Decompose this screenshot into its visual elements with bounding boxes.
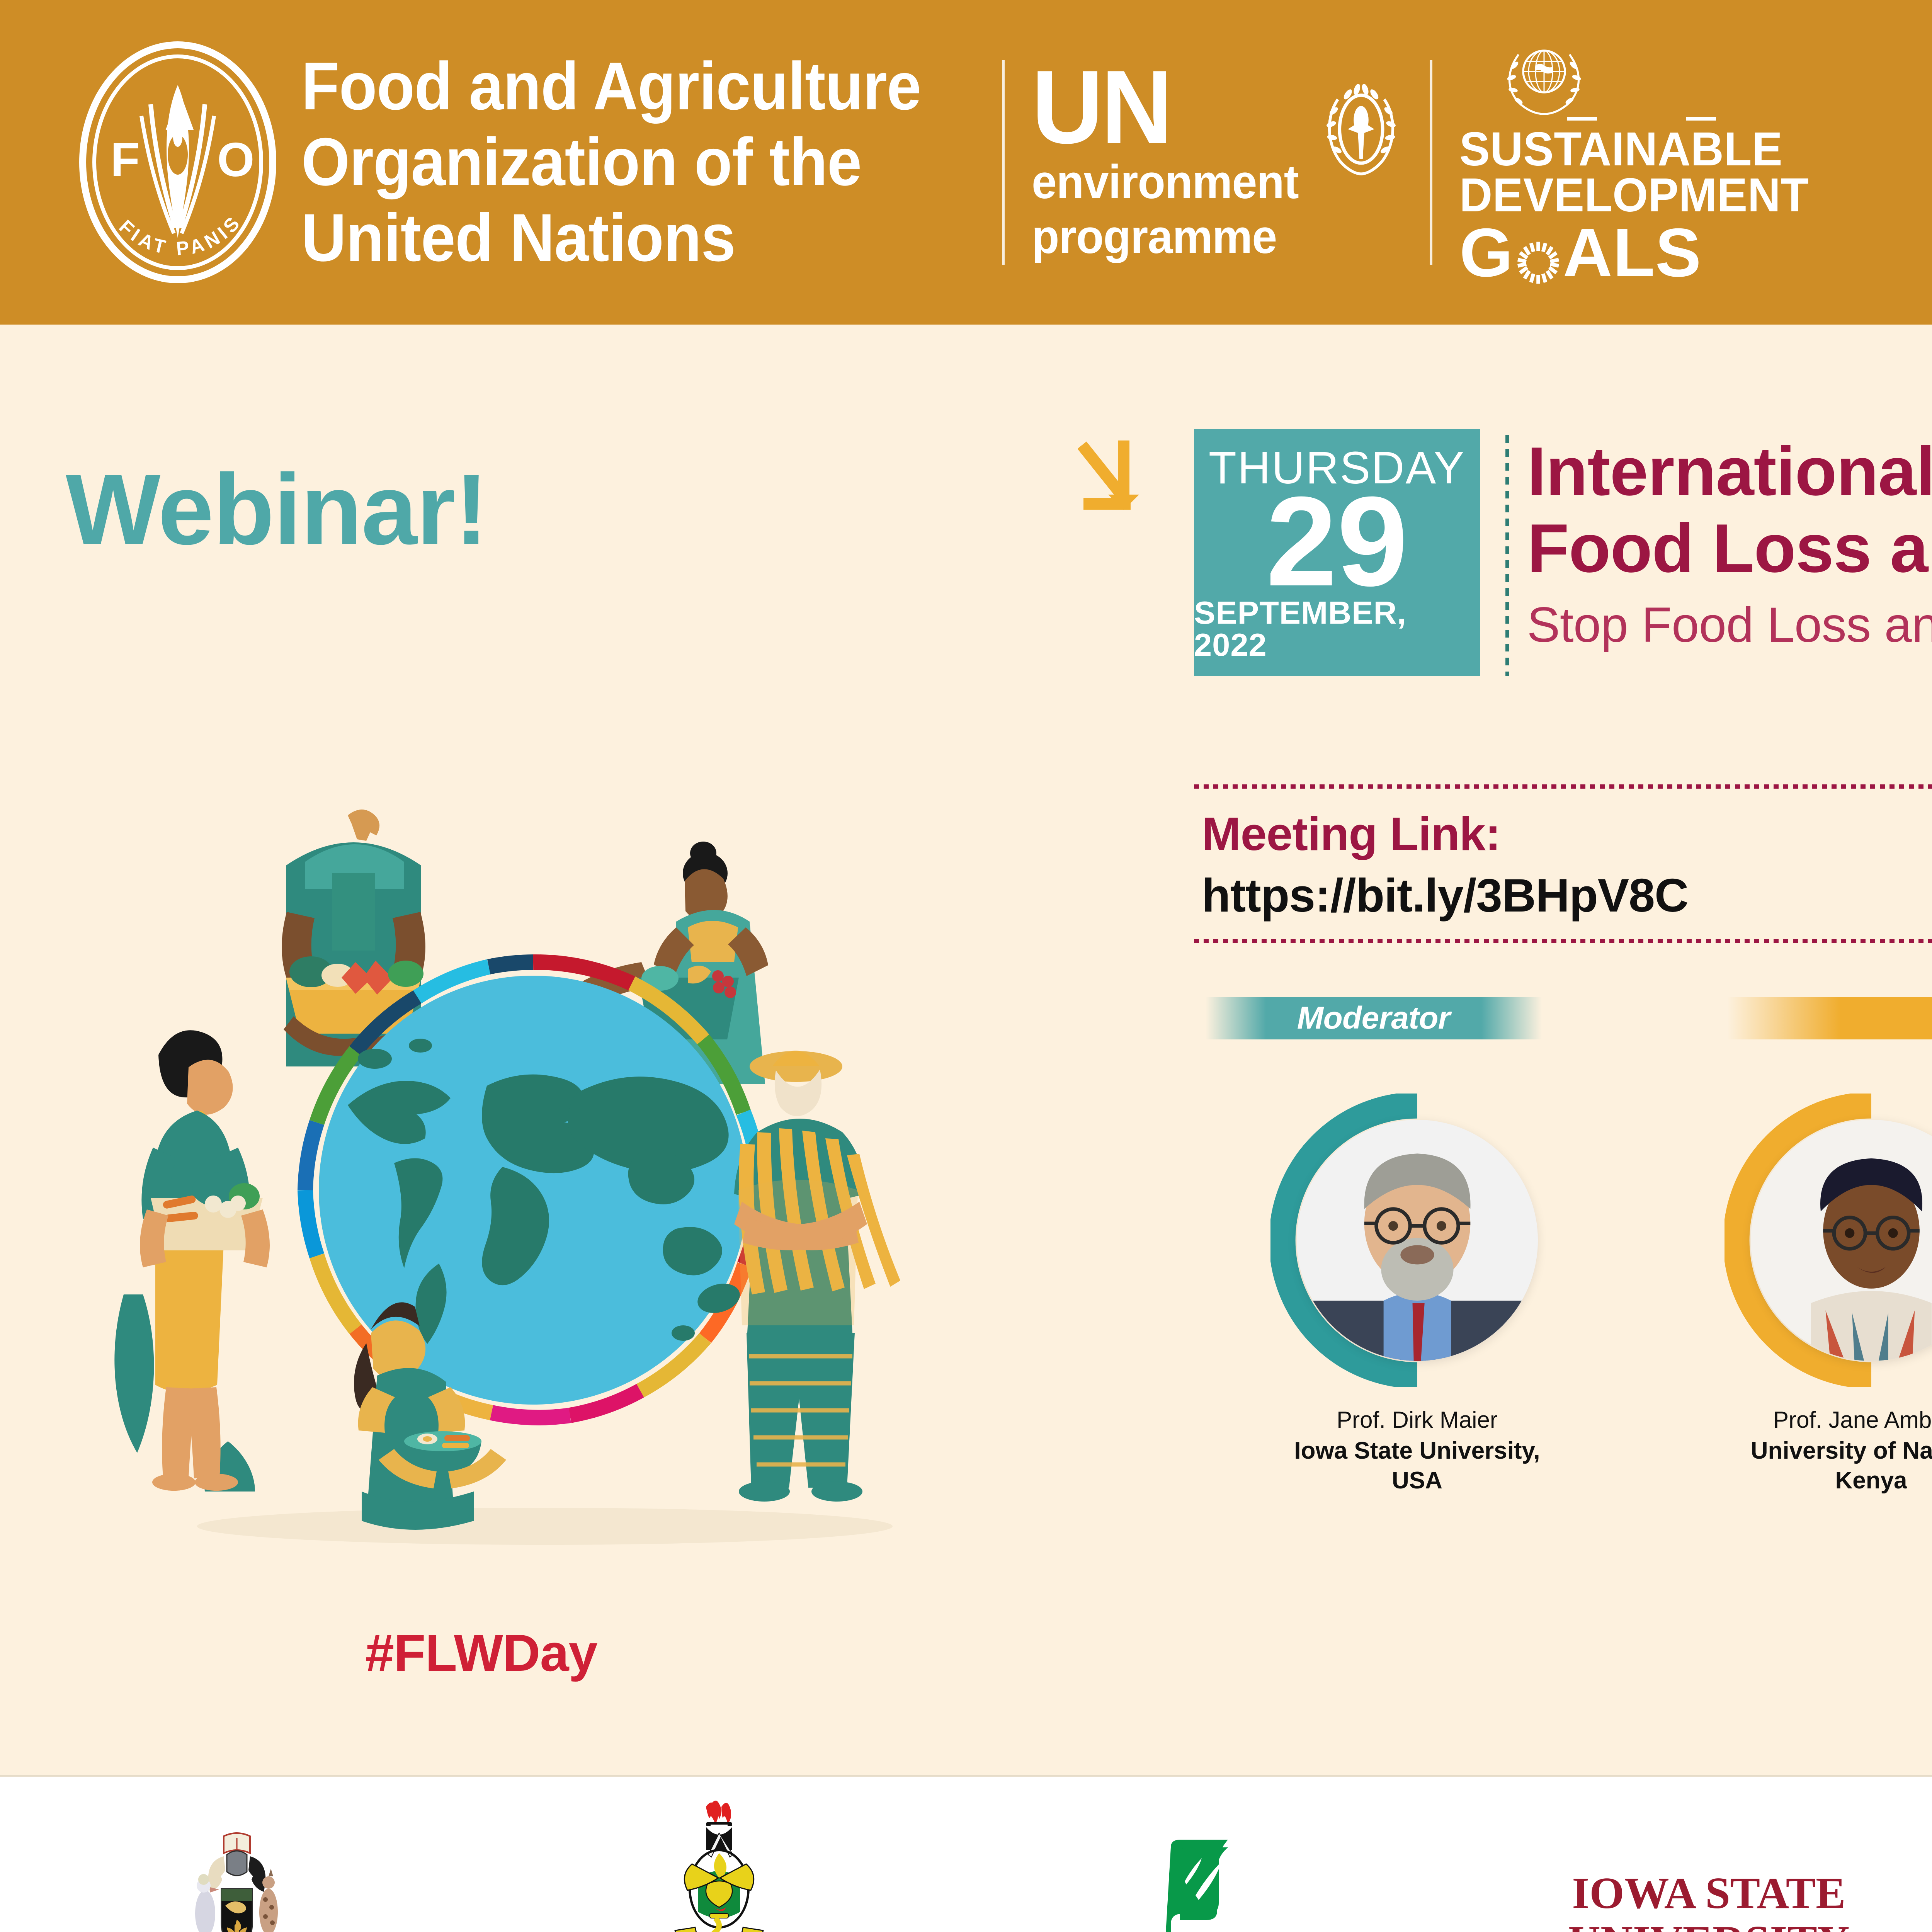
footer-divider <box>0 1775 1932 1777</box>
sdg-goals-word: G <box>1459 218 1823 287</box>
speakers-row: Prof. Dirk Maier Iowa State University,U… <box>1190 1094 1932 1496</box>
event-title-line-1: International Day of Awareness of <box>1527 433 1932 510</box>
meeting-link-label: Meeting Link: <box>1202 808 1688 861</box>
unep-laurel-icon <box>1320 81 1403 185</box>
fao-name-line-3: United Nations <box>301 200 921 276</box>
svg-text:A: A <box>165 92 195 139</box>
speaker-card-moderator: Prof. Dirk Maier Iowa State University,U… <box>1190 1094 1644 1496</box>
logo-iowa-state-university: IOWA STATE UNIVERSITY <box>1568 1869 1849 1932</box>
header-bar: F O A FIAT PANIS Food and Agriculture Or… <box>0 0 1932 325</box>
sdg-goals-als: ALS <box>1563 218 1702 287</box>
sdg-colour-wheel-icon <box>1514 229 1562 277</box>
fao-name-line-2: Organization of the <box>301 124 921 200</box>
logo-zamorano: ZAMORANO <box>1085 1838 1329 1932</box>
info-strip: Meeting Link: https://bit.ly/3BHpV8C Tim… <box>1202 808 1932 922</box>
speaker-affiliation: University of Nairobi,Kenya <box>1751 1436 1932 1496</box>
sdg-line-2: DEVELOPMENT <box>1459 173 1809 218</box>
header-divider-2 <box>1430 60 1432 265</box>
moderator-banner-label: Moderator <box>1297 1000 1450 1036</box>
panelists-banner: Panelists <box>1727 997 1932 1039</box>
iowa-line-2: UNIVERSITY <box>1568 1918 1849 1932</box>
sdg-line-1: SUSTAINABLE <box>1459 127 1809 172</box>
date-card: THURSDAY 29 SEPTEMBER, 2022 <box>1194 429 1480 676</box>
date-card-month-year: SEPTEMBER, 2022 <box>1194 597 1480 661</box>
speaker-headshot <box>1297 1120 1538 1361</box>
speaker-affiliation: Iowa State University,USA <box>1294 1436 1540 1496</box>
event-title-block: International Day of Awareness of Food L… <box>1527 429 1932 655</box>
sdg-rule-right <box>1686 117 1716 121</box>
arrow-pointer-icon <box>1078 437 1206 526</box>
svg-text:F: F <box>111 133 140 187</box>
speaker-name: Prof. Jane Ambuko <box>1773 1406 1932 1434</box>
meeting-link-url[interactable]: https://bit.ly/3BHpV8C <box>1202 869 1688 922</box>
speaker-name: Prof. Dirk Maier <box>1337 1406 1498 1434</box>
nairobi-crest-icon: UNITATE ET LABORE <box>179 1822 295 1932</box>
sdg-rule-left <box>1567 117 1597 121</box>
logo-knust: KNUST KWAME NKRUMAH UNIVERSITY OF SCIENC… <box>586 1798 852 1932</box>
fao-logo-lockup: F O A FIAT PANIS Food and Agriculture Or… <box>0 39 975 286</box>
unep-logo: UN environment programme <box>1032 63 1403 262</box>
un-emblem-icon <box>1500 37 1589 115</box>
sdg-rule-row <box>1459 117 1823 121</box>
webinar-heading: Webinar! <box>66 452 488 568</box>
sdg-logo: SUSTAINABLE DEVELOPMENT G <box>1459 37 1823 287</box>
hashtag-flwday: #FLWDay <box>365 1623 597 1683</box>
poster-canvas: F O A FIAT PANIS Food and Agriculture Or… <box>0 0 1932 1932</box>
unep-un-text: UN <box>1032 63 1299 152</box>
fao-name: Food and Agriculture Organization of the… <box>301 49 921 276</box>
event-tagline: Stop Food Loss and Waste. For the People… <box>1527 595 1932 655</box>
unep-line-2: environment <box>1032 158 1299 207</box>
iowa-line-1: IOWA STATE <box>1572 1869 1845 1918</box>
speaker-photo-frame <box>1270 1094 1564 1387</box>
speaker-photo-frame <box>1725 1094 1932 1387</box>
meeting-link-block: Meeting Link: https://bit.ly/3BHpV8C <box>1202 808 1688 922</box>
event-title-row: THURSDAY 29 SEPTEMBER, 2022 Internationa… <box>1194 429 1932 676</box>
sdg-goals-g: G <box>1459 218 1513 287</box>
zamorano-leaf-icon <box>1145 1838 1268 1932</box>
event-title-line-2: Food Loss and Waste <box>1527 510 1932 587</box>
fao-emblem-icon: F O A FIAT PANIS <box>73 39 282 286</box>
food-loss-illustration <box>100 746 989 1557</box>
dotted-rule-bottom <box>1194 939 1932 943</box>
speaker-card-panelist-1: Prof. Jane Ambuko University of Nairobi,… <box>1644 1094 1932 1496</box>
unep-line-3: programme <box>1032 213 1299 262</box>
partner-logos-bar: UNITATE ET LABORE University of Nairobi <box>0 1775 1932 1932</box>
vertical-dotted-divider <box>1505 435 1509 676</box>
date-card-day: 29 <box>1266 489 1408 594</box>
moderator-banner: Moderator <box>1206 997 1542 1039</box>
logo-university-of-nairobi: UNITATE ET LABORE University of Nairobi <box>139 1822 335 1932</box>
dotted-rule-top <box>1194 784 1932 789</box>
header-divider-1 <box>1002 60 1005 265</box>
svg-text:O: O <box>217 133 254 187</box>
fao-name-line-1: Food and Agriculture <box>301 49 921 124</box>
knust-crest-icon <box>661 1798 777 1932</box>
